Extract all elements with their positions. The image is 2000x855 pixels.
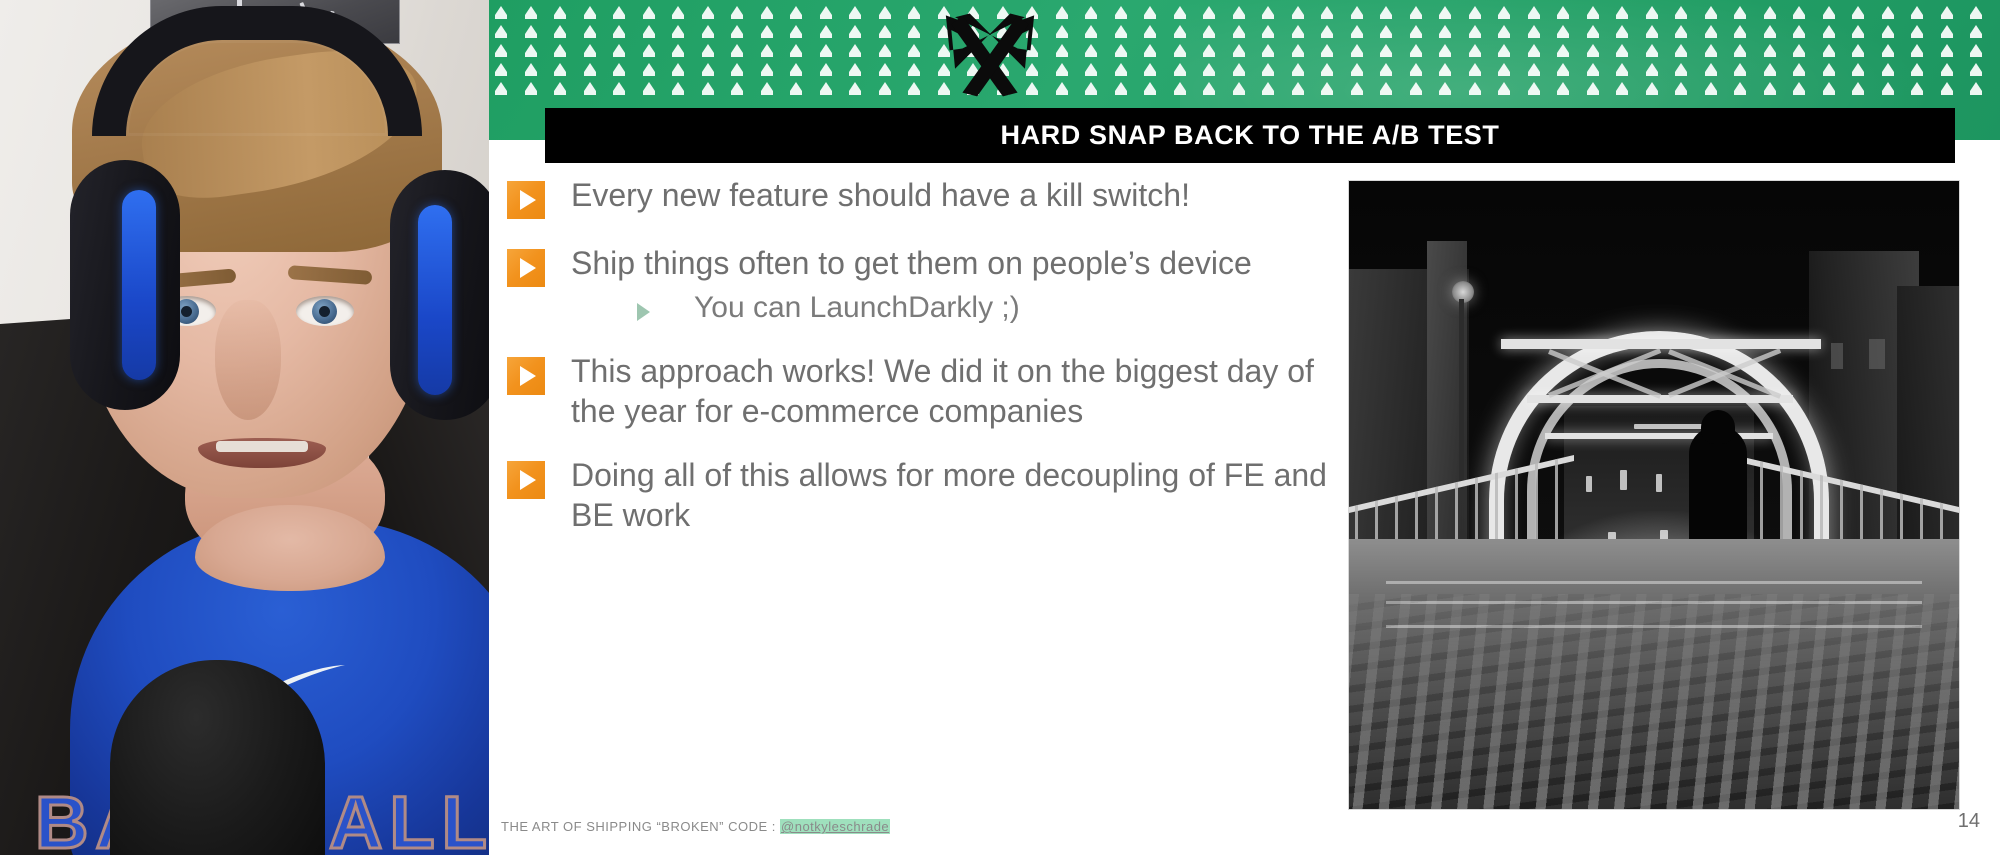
presenter-video-feed[interactable]: BASEBALL (0, 0, 489, 855)
street-lamp-post (1459, 299, 1464, 489)
eye-right (296, 296, 354, 326)
bridge-night-photo (1348, 180, 1960, 810)
presentation-screen: BASEBALL (0, 0, 2000, 855)
slide-footer: THE ART OF SHIPPING “BROKEN” CODE : @not… (501, 819, 890, 834)
play-triangle-bullet-icon (507, 181, 545, 219)
sub-bullet-text: You can LaunchDarkly ;) (694, 289, 1020, 327)
bullet-list: Every new feature should have a kill swi… (507, 175, 1367, 559)
play-triangle-bullet-icon (507, 249, 545, 287)
bullet-item: Doing all of this allows for more decoup… (507, 455, 1367, 535)
page-number: 14 (1958, 810, 1980, 833)
slide-title-bar: HARD SNAP BACK TO THE A/B TEST (545, 108, 1955, 163)
footer-title: THE ART OF SHIPPING “BROKEN” CODE : (501, 819, 780, 834)
sub-bullet-item: You can LaunchDarkly ;) (637, 289, 1252, 327)
bullet-item: Ship things often to get them on people’… (507, 243, 1367, 327)
triangle-dot-pattern (489, 0, 2000, 92)
bridge-deck (1349, 539, 1959, 809)
nose (215, 300, 281, 420)
sub-bullet-triangle-icon (637, 303, 650, 321)
slide-area: HARD SNAP BACK TO THE A/B TEST Every new… (489, 0, 2000, 855)
play-triangle-bullet-icon (507, 461, 545, 499)
bullet-text: Ship things often to get them on people’… (571, 243, 1252, 283)
footer-handle-link[interactable]: @notkyleschrade (780, 819, 890, 834)
bullet-text: Every new feature should have a kill swi… (571, 175, 1190, 215)
bullet-text: Doing all of this allows for more decoup… (571, 455, 1367, 535)
headphone-accent-right (418, 205, 452, 395)
cobblestone-paving (1349, 594, 1959, 809)
play-triangle-bullet-icon (507, 357, 545, 395)
bullet-text: This approach works! We did it on the bi… (571, 351, 1367, 431)
x-arrows-logo-icon (944, 8, 1036, 100)
bullet-item: Every new feature should have a kill swi… (507, 175, 1367, 219)
headphone-accent-left (122, 190, 156, 380)
microphone (110, 660, 325, 855)
bullet-item: This approach works! We did it on the bi… (507, 351, 1367, 431)
slide-title: HARD SNAP BACK TO THE A/B TEST (1000, 120, 1499, 151)
